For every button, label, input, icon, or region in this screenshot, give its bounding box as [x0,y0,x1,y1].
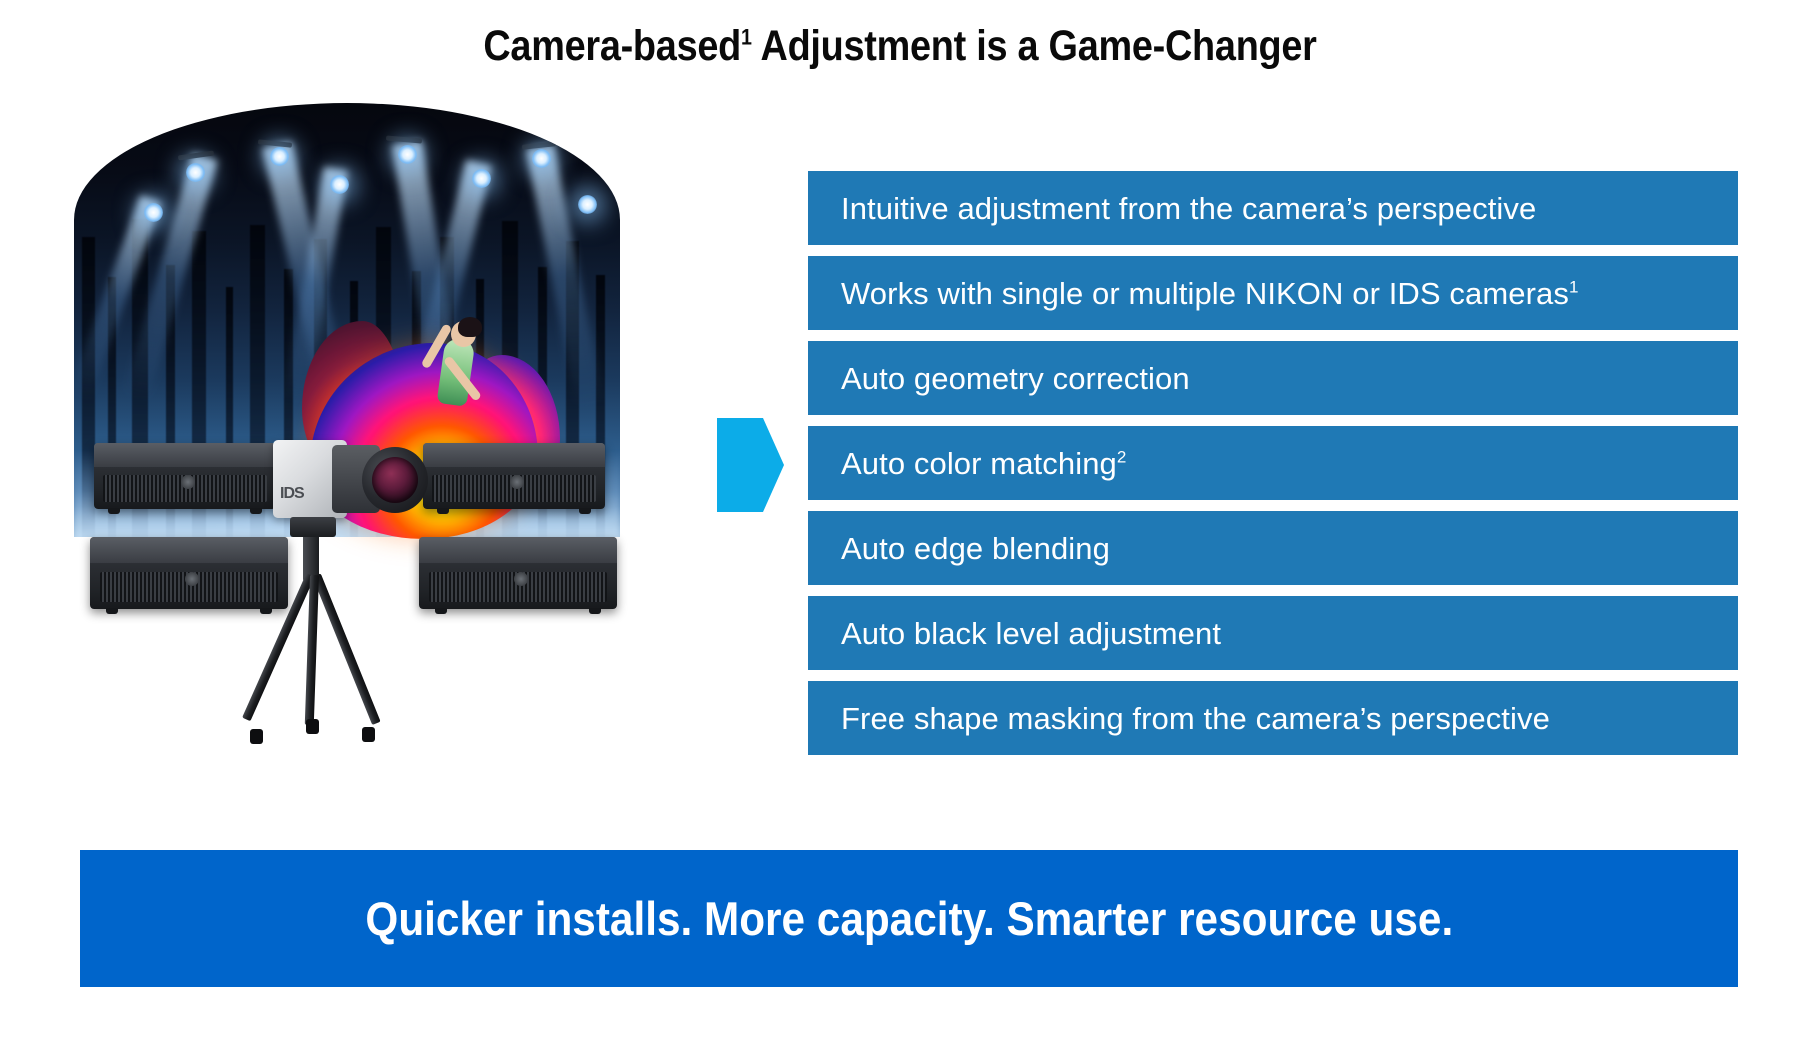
spotlight-icon [144,203,163,222]
projection-stage-photo: IDS [74,103,620,736]
summary-banner-text: Quicker installs. More capacity. Smarter… [365,891,1453,946]
projector-unit [423,443,605,509]
spotlight-icon [578,195,597,214]
feature-label: Auto color matching2 [841,448,1126,479]
projector-unit [419,537,617,609]
right-arrow-icon [717,412,784,518]
feature-list: Intuitive adjustment from the camera’s p… [808,171,1738,755]
feature-label: Free shape masking from the camera’s per… [841,703,1550,734]
feature-footnote-marker: 2 [1117,447,1127,466]
feature-bar[interactable]: Auto edge blending [808,511,1738,585]
tripod-foot [362,727,375,742]
slide-root: Camera-based1 Adjustment is a Game-Chang… [0,0,1800,1041]
page-title-footnote-marker: 1 [741,25,752,50]
tripod-leg [312,573,380,725]
spotlight-icon [532,149,551,168]
page-title-main: Camera-based [483,22,741,70]
spotlight-icon [270,147,289,166]
page-title-rest: Adjustment is a Game-Changer [752,22,1317,70]
tripod-head [290,517,336,537]
summary-banner: Quicker installs. More capacity. Smarter… [80,850,1738,987]
feature-bar[interactable]: Auto color matching2 [808,426,1738,500]
camera-lens-glass [372,457,418,503]
spotlight-icon [186,163,205,182]
spotlight-icon [330,175,349,194]
feature-footnote-marker: 1 [1569,277,1579,296]
feature-label: Auto black level adjustment [841,618,1221,649]
feature-label: Works with single or multiple NIKON or I… [841,278,1579,309]
spotlight-icon [398,145,417,164]
spotlight-icon [472,169,491,188]
feature-bar[interactable]: Intuitive adjustment from the camera’s p… [808,171,1738,245]
feature-bar[interactable]: Auto geometry correction [808,341,1738,415]
ids-logo: IDS [280,485,304,503]
tripod-foot [306,719,319,734]
page-title: Camera-based1 Adjustment is a Game-Chang… [108,22,1692,71]
feature-label: Intuitive adjustment from the camera’s p… [841,193,1536,224]
feature-bar[interactable]: Free shape masking from the camera’s per… [808,681,1738,755]
feature-label: Auto geometry correction [841,363,1190,394]
projector-unit [94,443,276,509]
feature-bar[interactable]: Works with single or multiple NIKON or I… [808,256,1738,330]
projector-unit [90,537,288,609]
feature-bar[interactable]: Auto black level adjustment [808,596,1738,670]
feature-label: Auto edge blending [841,533,1110,564]
tripod-foot [250,729,263,744]
tripod-leg [305,575,319,725]
